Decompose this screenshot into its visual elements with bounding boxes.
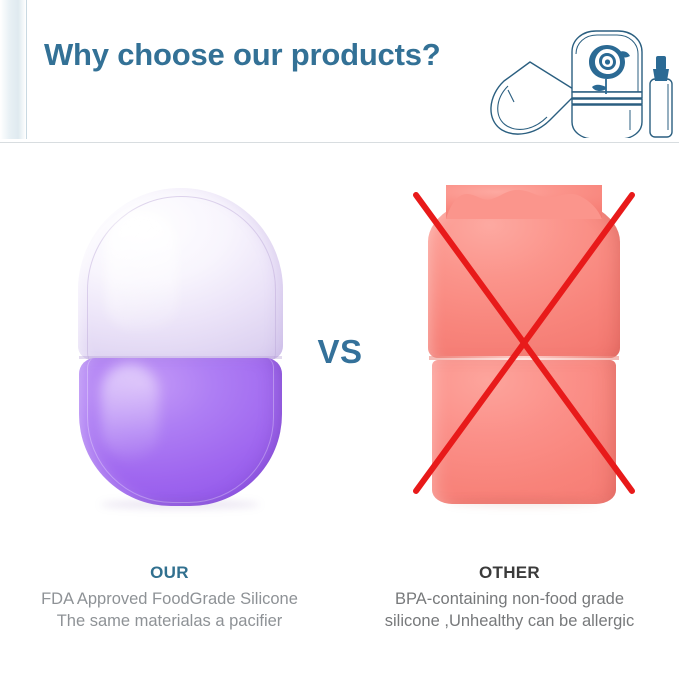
caption-other: OTHER BPA-containing non-food grade sili…: [340, 563, 679, 632]
page-title: Why choose our products?: [44, 37, 441, 73]
header-left-divider: [26, 0, 27, 139]
caption-other-line-2: silicone ,Unhealthy can be allergic: [340, 610, 679, 632]
comparison-infographic: Why choose our products?: [0, 0, 679, 679]
caption-other-heading: OTHER: [340, 563, 679, 583]
caption-our: OUR FDA Approved FoodGrade Silicone The …: [0, 563, 339, 632]
vs-label: VS: [307, 333, 373, 371]
capsule-cap: [78, 188, 283, 360]
header-band: Why choose our products?: [0, 0, 679, 143]
caption-our-line-1: FDA Approved FoodGrade Silicone: [0, 588, 339, 610]
capsule-body-highlight: [101, 364, 159, 460]
capsule-cap-highlight: [106, 212, 178, 330]
product-image-our: [78, 188, 283, 506]
caption-other-line-1: BPA-containing non-food grade: [340, 588, 679, 610]
capsule-drop-shadow: [100, 500, 260, 509]
dropper-cap-icon: [653, 56, 669, 81]
dropper-bottle-icon: [650, 79, 672, 137]
open-lid-icon: [491, 62, 578, 134]
capsule-body: [79, 358, 282, 506]
cross-out-x-icon: [410, 191, 638, 503]
header-left-accent-bar: [0, 0, 26, 139]
comparison-area: VS OUR FDA Approved FoodGrade Silicone T…: [0, 143, 679, 679]
header-icon-cluster: [478, 26, 674, 138]
caption-our-heading: OUR: [0, 563, 339, 583]
caption-our-line-2: The same materialas a pacifier: [0, 610, 339, 632]
